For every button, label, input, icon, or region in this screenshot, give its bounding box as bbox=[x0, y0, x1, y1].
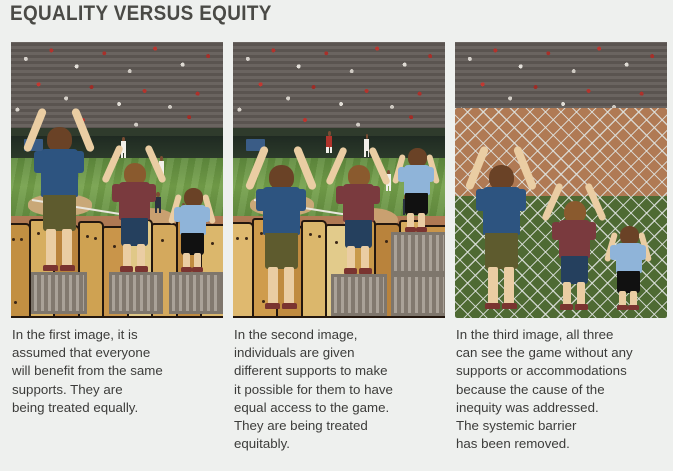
caption-equity: In the second image, individuals are giv… bbox=[234, 326, 439, 453]
page-title: EQUALITY VERSUS EQUITY bbox=[10, 2, 272, 26]
kid-tall bbox=[253, 139, 309, 314]
kid-short bbox=[395, 136, 437, 236]
panel-equity[interactable] bbox=[233, 42, 445, 318]
caption-justice: In the third image, all three can see th… bbox=[456, 326, 661, 453]
panel-row bbox=[0, 42, 673, 318]
kid-medium bbox=[333, 141, 383, 278]
crate-short-kid-1 bbox=[391, 274, 445, 316]
infographic-root: EQUALITY VERSUS EQUITY bbox=[0, 0, 673, 471]
panel-equality[interactable] bbox=[11, 42, 223, 318]
crate-short-kid-2 bbox=[391, 232, 445, 274]
panel-justice[interactable] bbox=[455, 42, 667, 318]
caption-equality: In the first image, it is assumed that e… bbox=[12, 326, 217, 417]
kid-tall bbox=[473, 139, 529, 314]
stadium-crowd bbox=[233, 42, 445, 136]
crate-medium-kid-1 bbox=[109, 272, 163, 314]
kid-short bbox=[607, 214, 649, 314]
field-player-batter bbox=[326, 136, 332, 153]
kid-medium bbox=[549, 177, 599, 314]
kid-medium bbox=[109, 139, 159, 276]
crate-short-kid-1 bbox=[169, 272, 223, 314]
crate-tall-kid-1 bbox=[31, 272, 87, 314]
kid-tall bbox=[31, 101, 87, 276]
crate-medium-kid-1 bbox=[331, 274, 387, 316]
kid-short bbox=[171, 176, 213, 276]
